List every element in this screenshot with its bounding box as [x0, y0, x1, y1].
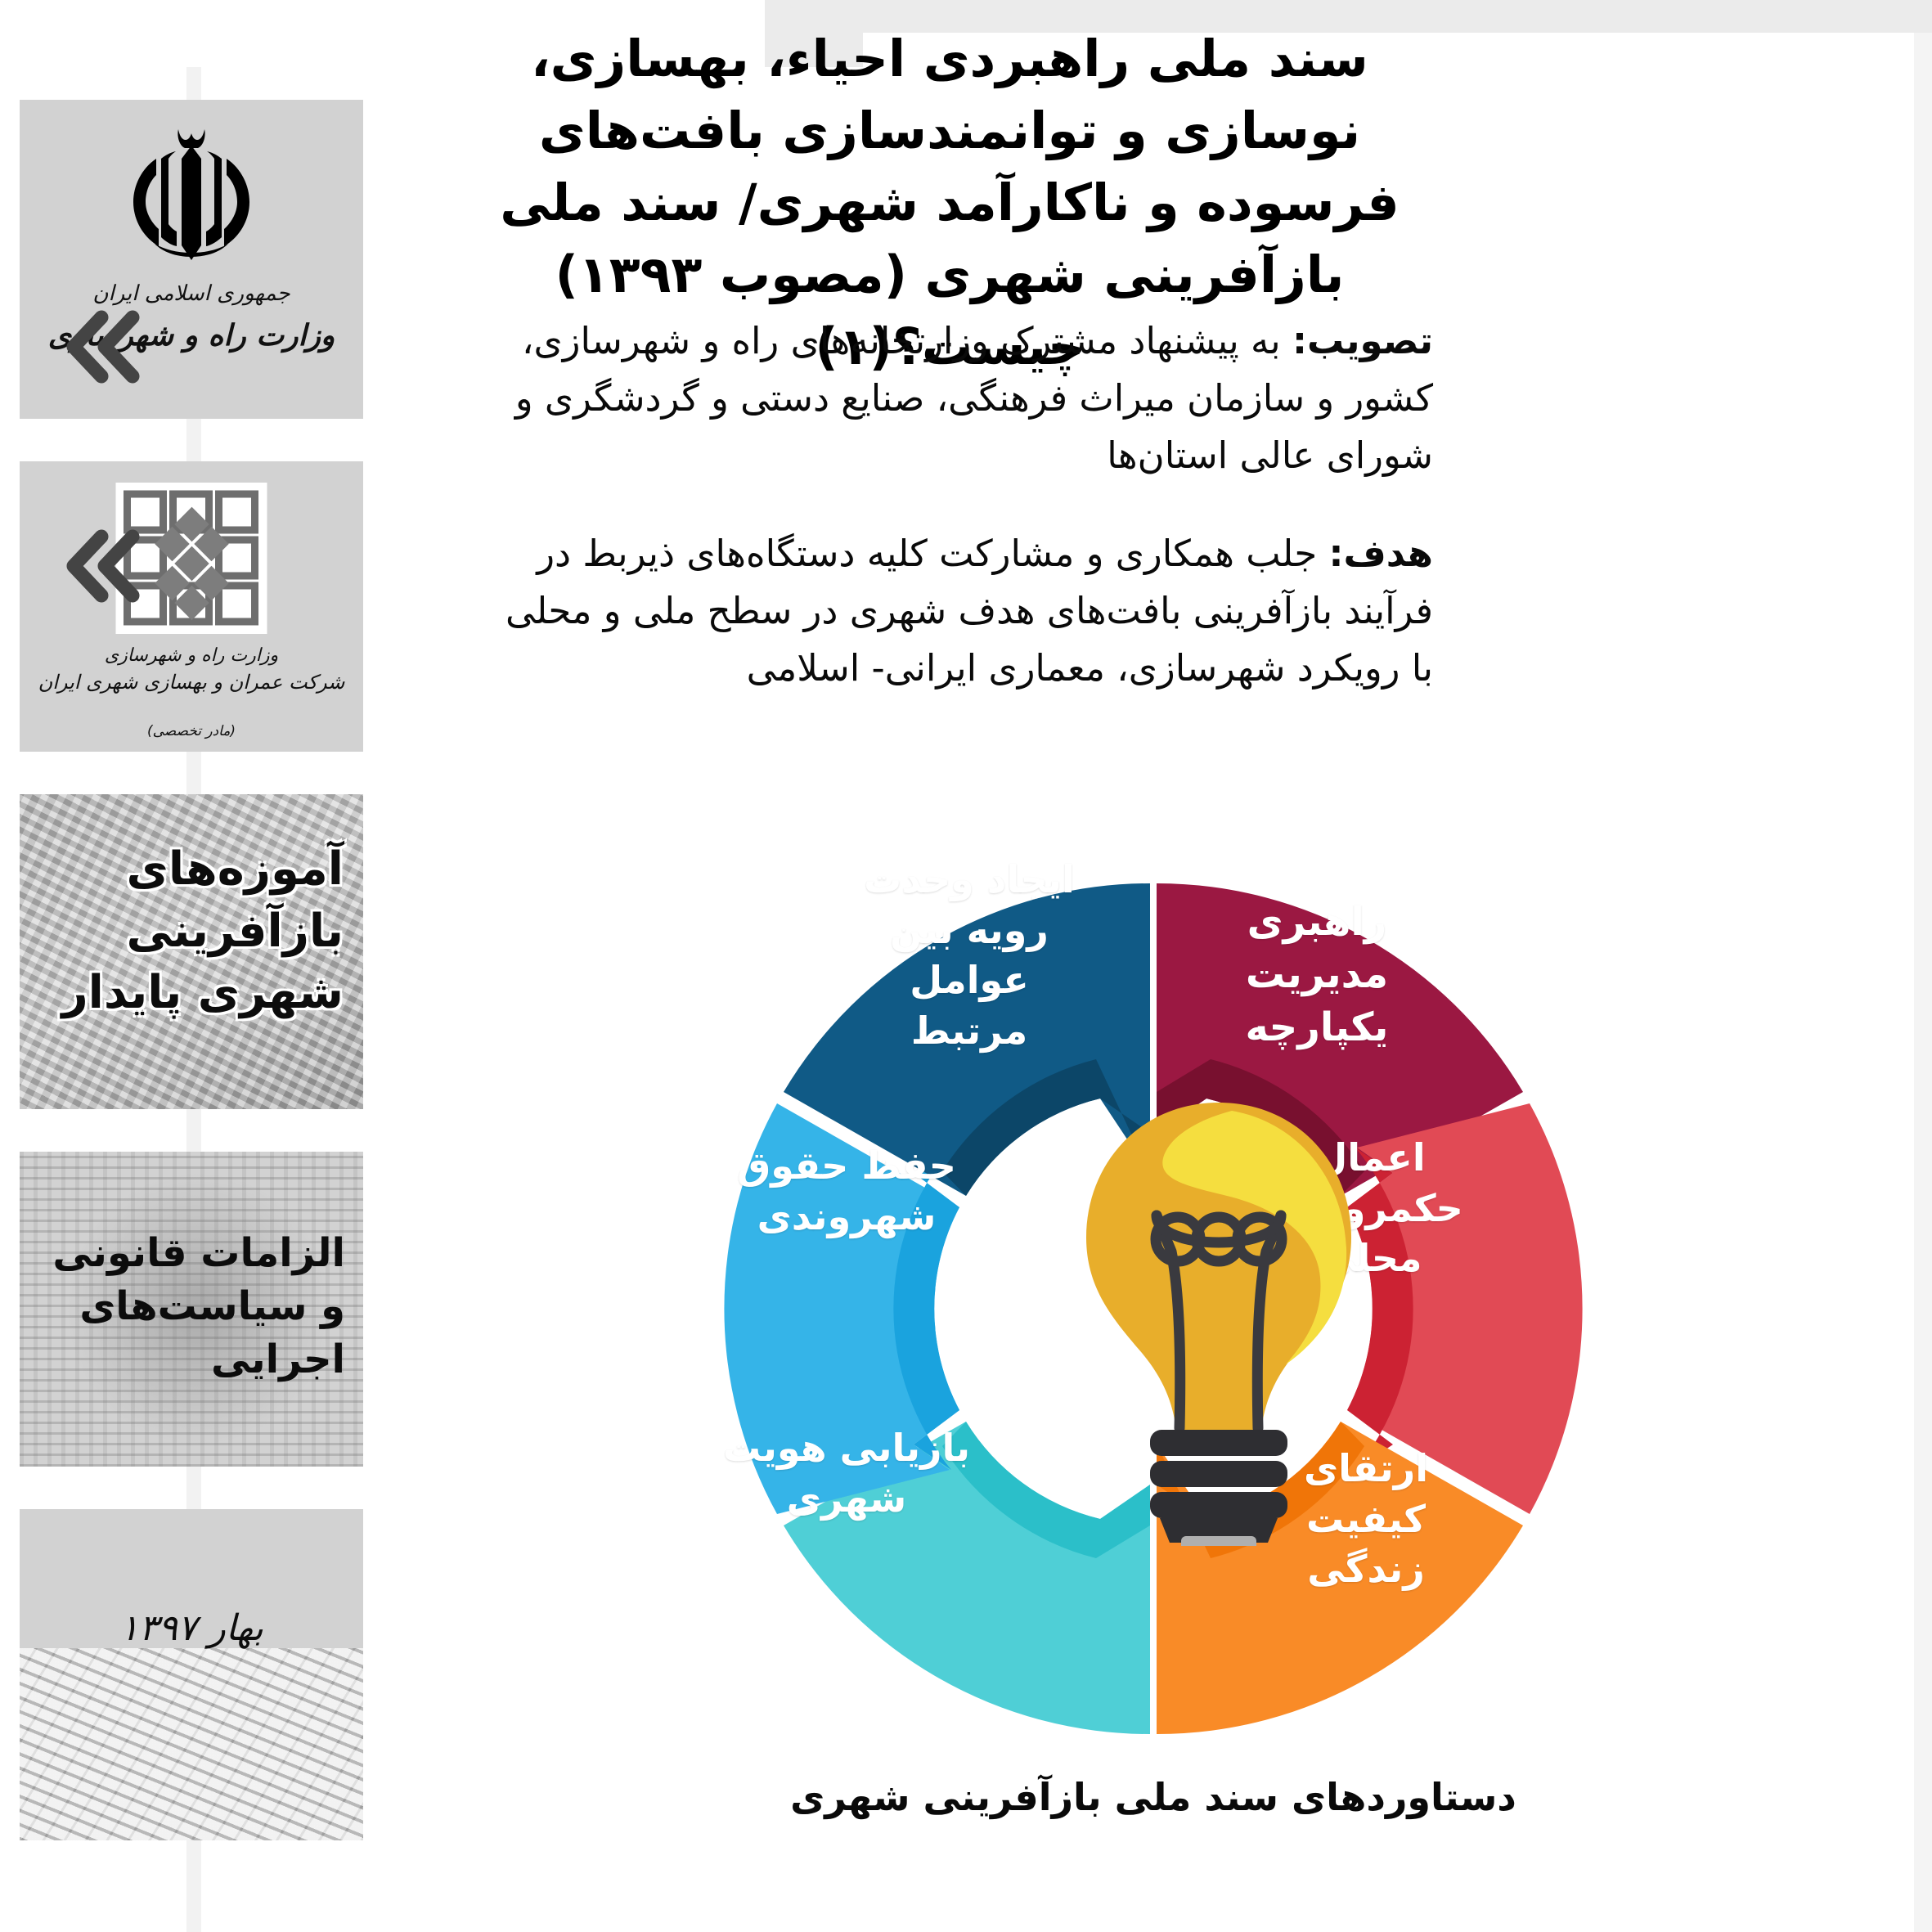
cad-city-plan [20, 1648, 363, 1840]
infographic-canvas: جمهوری اسلامی ایران وزارت راه و شهرسازی [0, 0, 1932, 1932]
wheel-caption: دستاوردهای سند ملی بازآفرینی شهری [442, 1775, 1865, 1819]
sidebar-card-legal-requirements: الزامات قانونی و سیاست‌های اجرایی [20, 1152, 363, 1467]
lightbulb-icon [1072, 1088, 1366, 1546]
company-logo-line-parent: (مادر تخصصی) [20, 723, 363, 739]
legal-requirements-card-title: الزامات قانونی و سیاست‌های اجرایی [38, 1227, 345, 1386]
goal-paragraph: هدف: جلب همکاری و مشارکت کلیه دستگاه‌های… [491, 525, 1433, 696]
date-card-title: بهار ۱۳۹۷ [20, 1607, 363, 1649]
company-logo-line-ministry: وزارت راه و شهرسازی [20, 645, 363, 666]
approval-label: تصویب: [1292, 319, 1433, 362]
achievements-wheel-diagram: راهبری مدیریت یکپارچه اعمال حکمروایی محل… [442, 687, 1865, 1832]
frame-band-right-rule [1914, 33, 1932, 1932]
goal-paragraph-text: هدف: جلب همکاری و مشارکت کلیه دستگاه‌های… [491, 525, 1433, 696]
double-chevron-left-icon [62, 304, 141, 389]
teachings-card-title: آموزه‌های بازآفرینی شهری پایدار [39, 838, 344, 1024]
goal-body: جلب همکاری و مشارکت کلیه دستگاه‌های ذیرب… [505, 532, 1433, 690]
ministry-logo-caption-country: جمهوری اسلامی ایران [20, 281, 363, 306]
iran-emblem-icon [97, 123, 285, 266]
company-logo-line-company: شرکت عمران و بهسازی شهری ایران [20, 671, 363, 694]
approval-paragraph-text: تصویب: به پیشنهاد مشترک وزارتخانه‌های را… [491, 312, 1433, 483]
sidebar-card-teachings: آموزه‌های بازآفرینی شهری پایدار [20, 794, 363, 1109]
sidebar-card-date: بهار ۱۳۹۷ [20, 1509, 363, 1840]
approval-paragraph: تصویب: به پیشنهاد مشترک وزارتخانه‌های را… [491, 312, 1433, 483]
double-chevron-left-icon-2 [62, 523, 141, 609]
goal-label: هدف: [1329, 532, 1433, 575]
